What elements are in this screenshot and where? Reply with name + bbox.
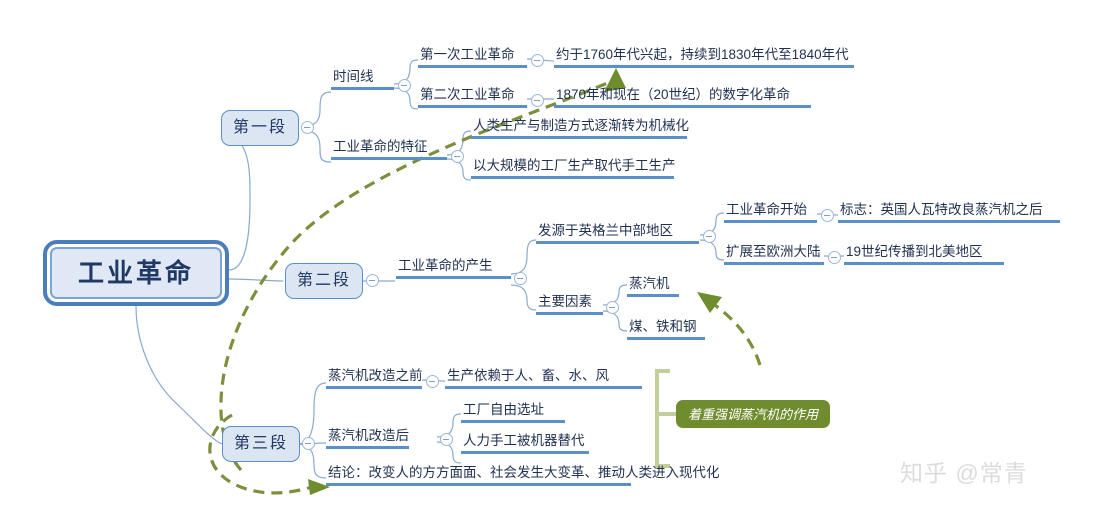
toggle-origin-place[interactable] (703, 230, 716, 243)
topic-expand-europe-label: 扩展至欧洲大陆 (724, 245, 824, 262)
topic-expand-europe-detail-label: 19世纪传播到北美地区 (844, 245, 1004, 262)
topic-first-revolution[interactable]: 第一次工业革命 (418, 48, 527, 68)
toggle-section-2[interactable] (366, 274, 379, 287)
toggle-section-3[interactable] (302, 437, 315, 450)
topic-origin-place-label: 发源于英格兰中部地区 (536, 224, 699, 241)
watermark: 知乎 @常青 (900, 462, 1028, 485)
topic-origin-place[interactable]: 发源于英格兰中部地区 (536, 224, 699, 244)
topic-factory-site[interactable]: 工厂自由选址 (461, 403, 565, 423)
topic-coal-iron-steel-label: 煤、铁和钢 (627, 320, 705, 337)
topic-before-steam-label: 蒸汽机改造之前 (326, 369, 422, 386)
topic-before-steam[interactable]: 蒸汽机改造之前 (326, 369, 422, 389)
topic-expand-europe[interactable]: 扩展至欧洲大陆 (724, 245, 824, 265)
toggle-second-revolution[interactable] (531, 94, 544, 107)
topic-revolution-start-label: 工业革命开始 (724, 203, 817, 220)
toggle-before-steam[interactable] (426, 375, 439, 388)
topic-feature-mechanization[interactable]: 人类生产与制造方式逐渐转为机械化 (471, 119, 687, 139)
topic-features-label: 工业革命的特征 (331, 140, 447, 157)
annotation-callout[interactable]: 着重强调蒸汽机的作用 (676, 400, 830, 428)
root-node[interactable]: 工业革命 (43, 240, 229, 306)
topic-before-steam-detail-label: 生产依赖于人、畜、水、风 (445, 369, 642, 386)
section-node-3-label: 第三段 (234, 436, 288, 452)
topic-timeline[interactable]: 时间线 (331, 70, 394, 90)
topic-after-steam[interactable]: 蒸汽机改造后 (326, 429, 409, 449)
topic-feature-mechanization-label: 人类生产与制造方式逐渐转为机械化 (471, 119, 687, 136)
topic-first-revolution-label: 第一次工业革命 (418, 48, 527, 65)
toggle-after-steam[interactable] (440, 433, 453, 446)
section-node-3[interactable]: 第三段 (222, 426, 300, 462)
toggle-origin[interactable] (514, 272, 527, 285)
topic-origin-label: 工业革命的产生 (396, 259, 511, 276)
topic-after-steam-label: 蒸汽机改造后 (326, 429, 409, 446)
topic-second-revolution-label: 第二次工业革命 (418, 88, 527, 105)
arrowhead-to-steam-engine (697, 292, 722, 313)
section-node-2[interactable]: 第二段 (285, 263, 363, 299)
topic-timeline-label: 时间线 (331, 70, 394, 87)
toggle-main-factors[interactable] (606, 301, 619, 314)
topic-feature-factory[interactable]: 以大规模的工厂生产取代手工生产 (471, 159, 674, 179)
topic-before-steam-detail[interactable]: 生产依赖于人、畜、水、风 (445, 369, 642, 389)
section-node-1[interactable]: 第一段 (221, 110, 299, 146)
topic-first-revolution-detail-label: 约于1760年代兴起，持续到1830年代至1840年代 (554, 48, 854, 65)
toggle-revolution-start[interactable] (821, 209, 834, 222)
topic-steam-engine-label: 蒸汽机 (627, 277, 679, 294)
mindmap-canvas: 工业革命 第一段 时间线 工业革命的特征 第一次工业革命 约于1760年代兴起，… (0, 0, 1097, 528)
topic-second-revolution-detail-label: 1870年和现在（20世纪）的数字化革命 (554, 88, 811, 105)
topic-machine-replace-label: 人力手工被机器替代 (461, 434, 589, 451)
topic-revolution-start[interactable]: 工业革命开始 (724, 203, 817, 223)
annotation-callout-label: 着重强调蒸汽机的作用 (688, 408, 818, 421)
topic-coal-iron-steel[interactable]: 煤、铁和钢 (627, 320, 705, 340)
toggle-first-revolution[interactable] (531, 54, 544, 67)
toggle-features[interactable] (451, 150, 464, 163)
topic-expand-europe-detail[interactable]: 19世纪传播到北美地区 (844, 245, 1004, 265)
topic-main-factors[interactable]: 主要因素 (536, 295, 603, 315)
toggle-expand-europe[interactable] (828, 251, 841, 264)
topic-factory-site-label: 工厂自由选址 (461, 403, 565, 420)
topic-steam-engine[interactable]: 蒸汽机 (627, 277, 679, 297)
topic-features[interactable]: 工业革命的特征 (331, 140, 447, 160)
topic-second-revolution-detail[interactable]: 1870年和现在（20世纪）的数字化革命 (554, 88, 811, 108)
topic-main-factors-label: 主要因素 (536, 295, 603, 312)
topic-origin[interactable]: 工业革命的产生 (396, 259, 511, 279)
topic-second-revolution[interactable]: 第二次工业革命 (418, 88, 527, 108)
section-node-1-label: 第一段 (233, 120, 287, 136)
topic-revolution-start-detail-label: 标志：英国人瓦特改良蒸汽机之后 (838, 203, 1060, 220)
topic-conclusion-label: 结论：改变人的方方面面、社会发生大变革、推动人类进入现代化 (326, 466, 631, 483)
topic-feature-factory-label: 以大规模的工厂生产取代手工生产 (471, 159, 674, 176)
toggle-timeline[interactable] (398, 79, 411, 92)
topic-first-revolution-detail[interactable]: 约于1760年代兴起，持续到1830年代至1840年代 (554, 48, 854, 68)
topic-conclusion[interactable]: 结论：改变人的方方面面、社会发生大变革、推动人类进入现代化 (326, 466, 631, 486)
topic-machine-replace[interactable]: 人力手工被机器替代 (461, 434, 589, 454)
section-node-2-label: 第二段 (297, 273, 351, 289)
root-node-label: 工业革命 (78, 260, 194, 286)
toggle-section-1[interactable] (301, 121, 314, 134)
topic-revolution-start-detail[interactable]: 标志：英国人瓦特改良蒸汽机之后 (838, 203, 1060, 223)
